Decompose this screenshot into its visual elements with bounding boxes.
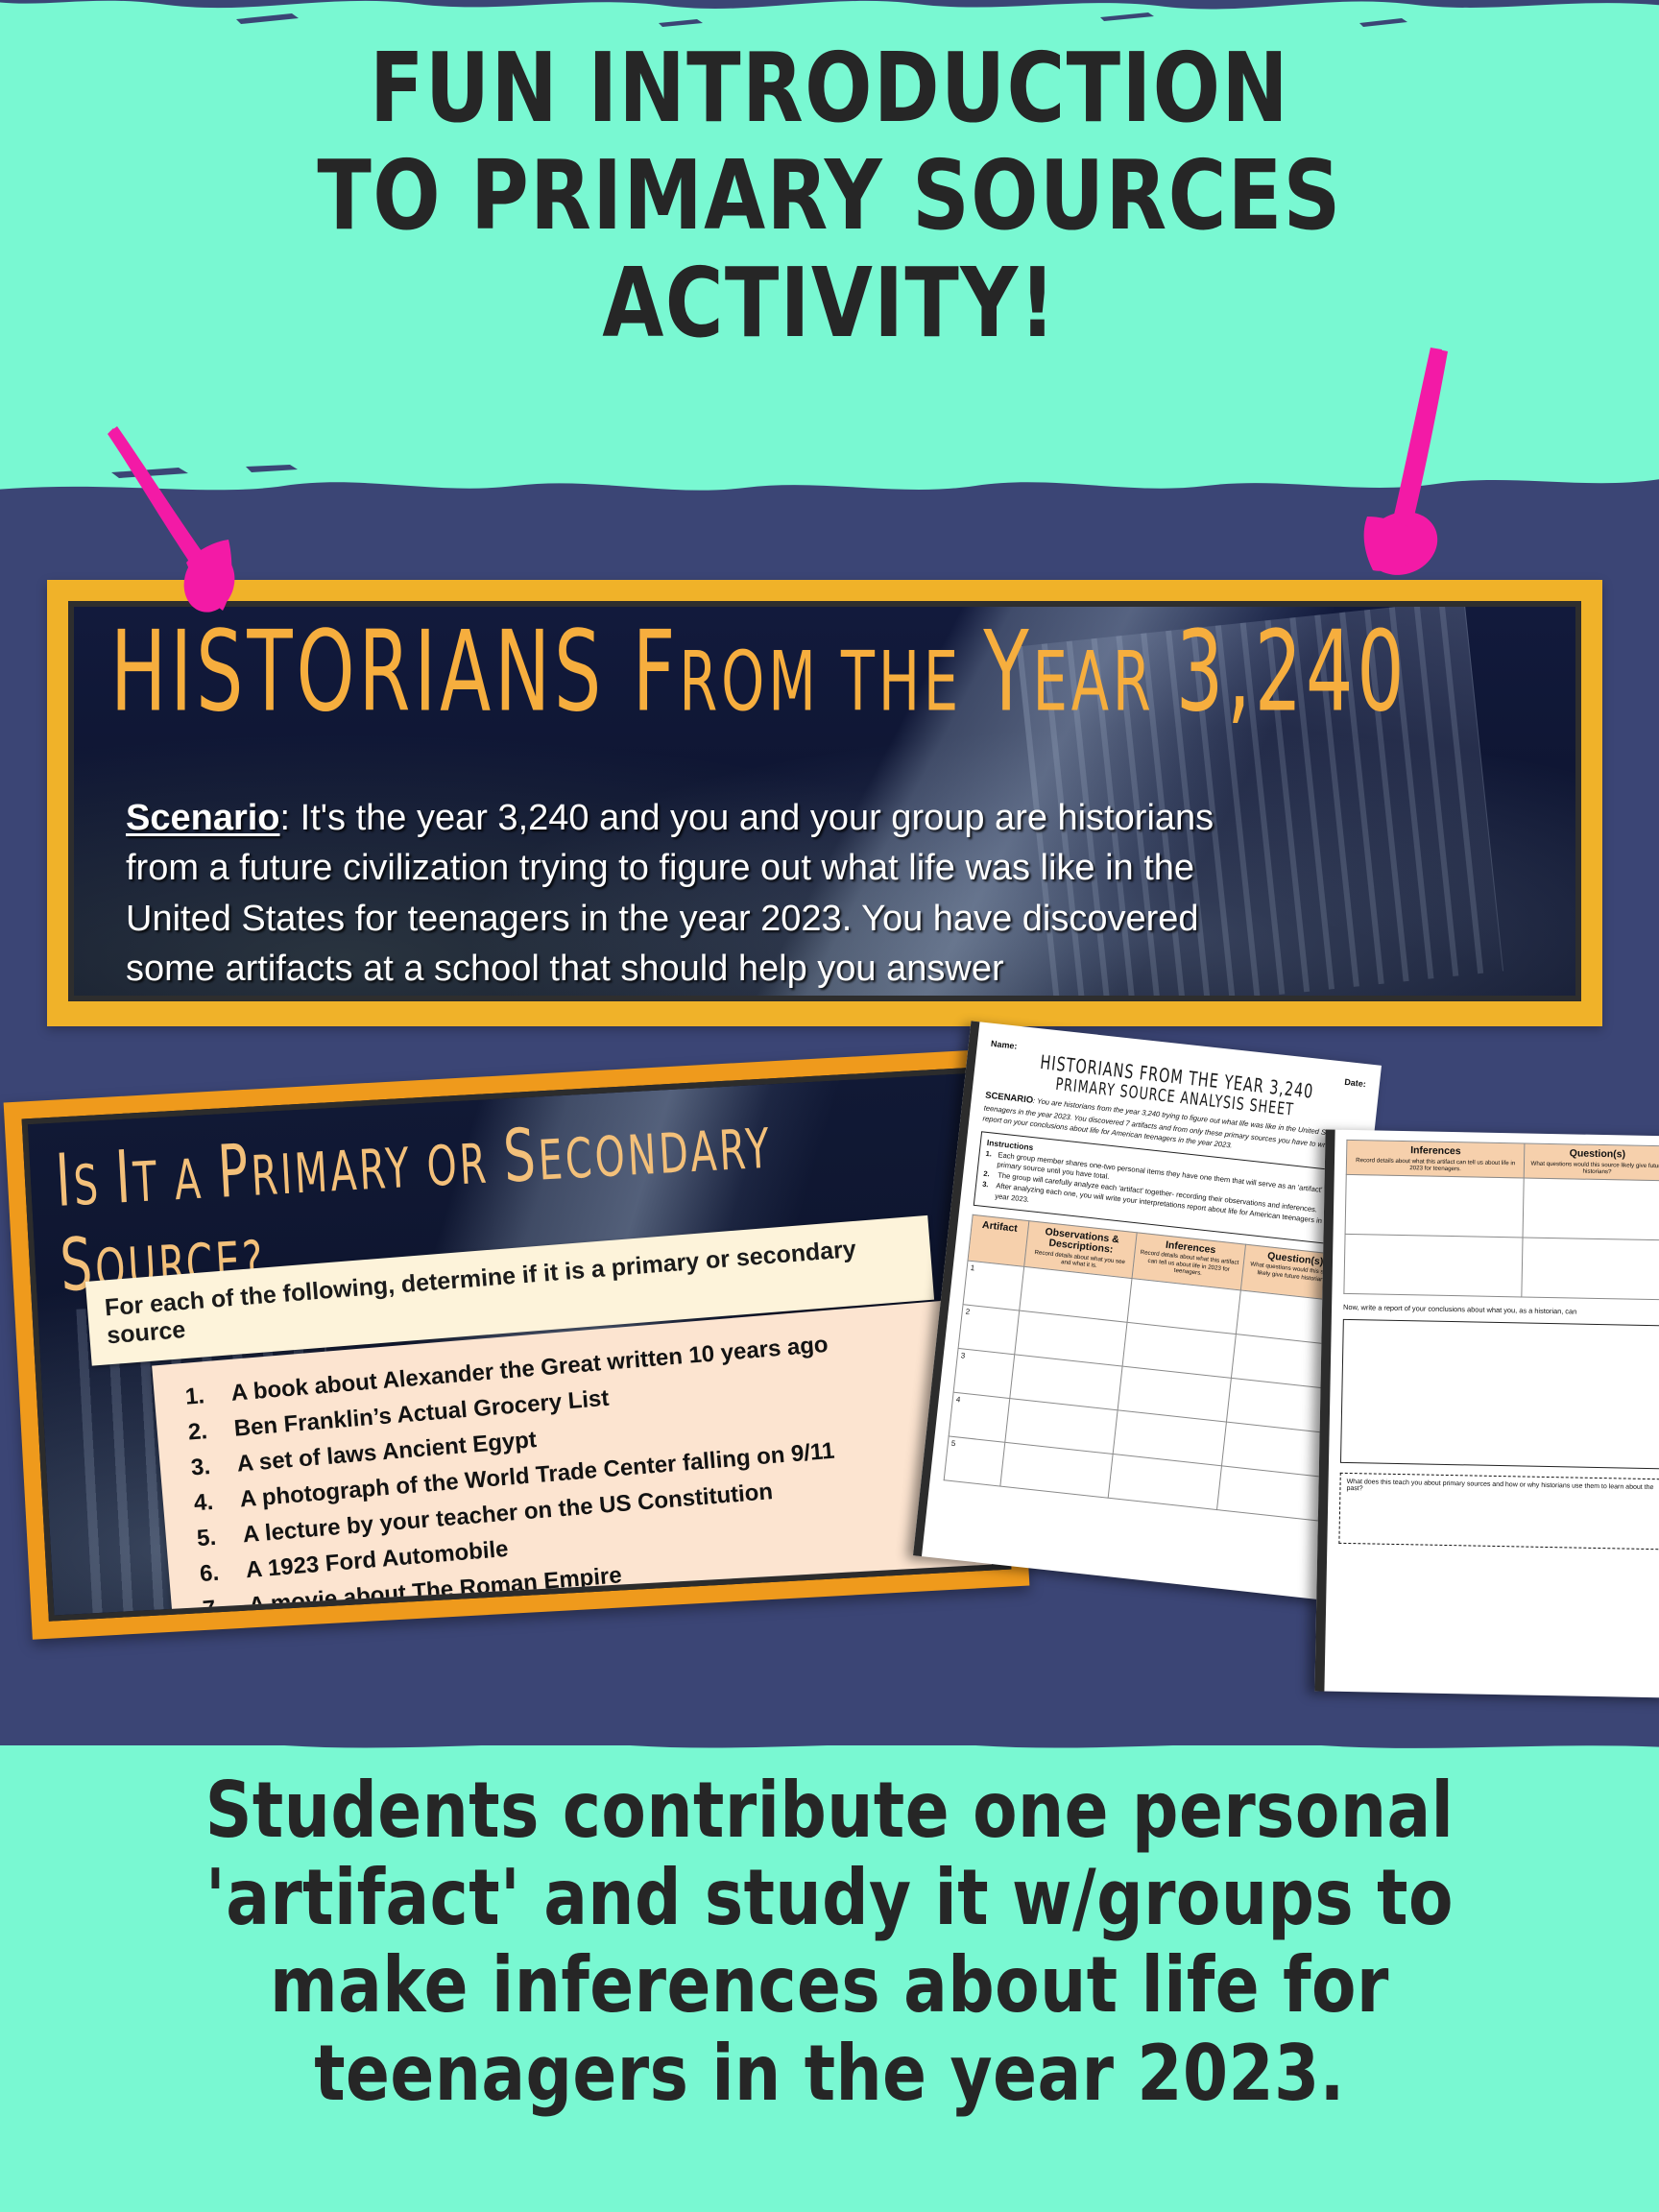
artifact-analysis-table: Artifact Observations & Descriptions:Rec… xyxy=(944,1214,1348,1522)
scenario-body: : It's the year 3,240 and you and your g… xyxy=(126,798,1214,989)
column-header-inferences: InferencesRecord details about what this… xyxy=(1346,1140,1525,1178)
worksheet-scenario-label: SCENARIO xyxy=(985,1090,1034,1105)
poster-root: FUN INTRODUCTION TO PRIMARY SOURCES ACTI… xyxy=(0,0,1659,2212)
cell-inferences[interactable] xyxy=(1345,1175,1524,1238)
bottom-teal-band: Students contribute one personal 'artifa… xyxy=(0,1745,1659,2212)
list-item-number: 6. xyxy=(199,1561,229,1586)
column-header-artifact: Artifact xyxy=(968,1214,1029,1266)
list-item-number: 7. xyxy=(202,1597,232,1622)
instruction-number: 2. xyxy=(983,1169,993,1180)
page-subheadline: Students contribute one personal 'artifa… xyxy=(50,1767,1609,2117)
row-number: 3 xyxy=(953,1348,1014,1398)
cell-questions[interactable] xyxy=(1523,1178,1659,1240)
rough-edge-top-icon xyxy=(0,0,1659,35)
list-item-number: 3. xyxy=(190,1455,221,1479)
instruction-number: 3. xyxy=(980,1180,991,1200)
worksheet-reflection-note: What does this teach you about primary s… xyxy=(1346,1479,1653,1492)
instruction-number: 1. xyxy=(984,1149,993,1169)
worksheet-page-1: Name: Date: Historians From the Year 3,2… xyxy=(913,1021,1382,1599)
artifact-analysis-table-page2: InferencesRecord details about what this… xyxy=(1343,1140,1659,1301)
worksheet-report-note: Now, write a report of your conclusions … xyxy=(1343,1303,1659,1319)
table-row xyxy=(1345,1175,1659,1240)
primary-secondary-inner: Is It a Primary or Secondary Source? For… xyxy=(22,1067,1012,1622)
row-number: 1 xyxy=(963,1261,1023,1310)
row-number: 4 xyxy=(949,1392,1009,1442)
table-row xyxy=(1344,1235,1659,1300)
row-number: 5 xyxy=(944,1436,1004,1486)
page-headline: FUN INTRODUCTION TO PRIMARY SOURCES ACTI… xyxy=(66,35,1593,357)
column-desc: Record details about what this artifact … xyxy=(1350,1157,1522,1174)
scenario-banner-card: Historians From the Year 3,240 Scenario:… xyxy=(47,580,1602,1026)
list-item-number: 4. xyxy=(193,1490,224,1515)
worksheet-report-box[interactable] xyxy=(1340,1319,1659,1469)
primary-secondary-card: Is It a Primary or Secondary Source? For… xyxy=(4,1048,1030,1639)
column-header-questions: Question(s)What questions would this sou… xyxy=(1525,1143,1659,1181)
banner-scenario-text: Scenario: It's the year 3,240 and you an… xyxy=(126,793,1259,995)
list-item-number: 2. xyxy=(187,1419,218,1444)
list-item-number: 1. xyxy=(184,1383,215,1408)
column-desc: What questions would this source likely … xyxy=(1527,1160,1659,1177)
row-number: 2 xyxy=(958,1305,1019,1355)
pink-arrow-left-icon xyxy=(106,422,326,643)
pink-arrow-right-icon xyxy=(1325,346,1546,595)
worksheet-reflection-box[interactable]: What does this teach you about primary s… xyxy=(1338,1473,1659,1550)
scenario-label: Scenario xyxy=(126,798,280,838)
cell-inferences[interactable] xyxy=(1344,1235,1523,1298)
column-title: Artifact xyxy=(974,1219,1025,1236)
cell-questions[interactable] xyxy=(1522,1238,1659,1300)
list-item-number: 5. xyxy=(196,1526,227,1551)
scenario-banner-inner: Historians From the Year 3,240 Scenario:… xyxy=(68,601,1581,1001)
worksheet-page-2: InferencesRecord details about what this… xyxy=(1314,1129,1659,1697)
